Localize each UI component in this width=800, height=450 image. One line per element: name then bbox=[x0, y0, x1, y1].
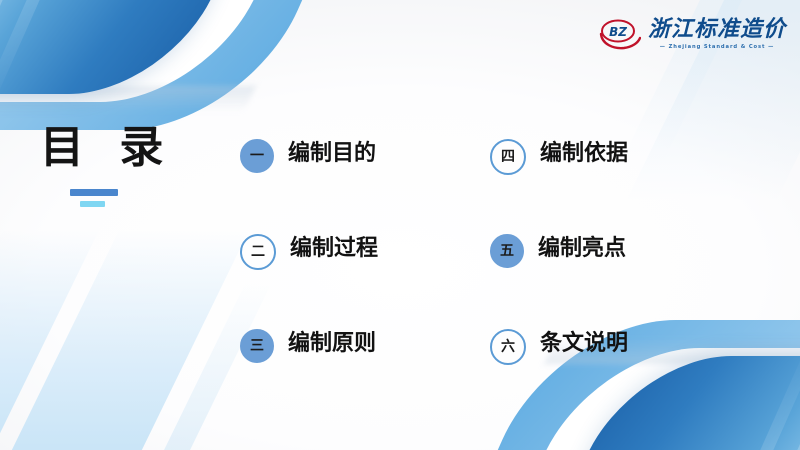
toc-number-badge-5: 五 bbox=[490, 234, 524, 268]
toc-label-1: 编制目的 bbox=[288, 136, 376, 171]
toc-number-badge-2: 二 bbox=[240, 234, 276, 270]
toc-number-badge-1: 一 bbox=[240, 139, 274, 173]
title-accent-bars bbox=[40, 189, 210, 207]
top-left-white-gap bbox=[0, 0, 312, 102]
page-title: 目 录 bbox=[40, 126, 210, 170]
toc-item-2[interactable]: 二 编制过程 bbox=[240, 231, 490, 326]
toc-item-5[interactable]: 五 编制亮点 bbox=[490, 231, 740, 326]
toc-label-5: 编制亮点 bbox=[538, 231, 626, 266]
toc-item-3[interactable]: 三 编制原则 bbox=[240, 326, 490, 421]
toc-item-1[interactable]: 一 编制目的 bbox=[240, 136, 490, 231]
top-left-main-shape bbox=[0, 0, 271, 94]
title-block: 目 录 bbox=[40, 126, 210, 207]
top-left-streak-a bbox=[0, 0, 63, 94]
toc-label-4: 编制依据 bbox=[540, 136, 628, 171]
table-of-contents: 一 编制目的 四 编制依据 二 编制过程 五 编制亮点 三 编制原则 六 条文说… bbox=[240, 136, 740, 421]
company-logo: BZ 浙江标准造价 — Zhejiang Standard & Cost — bbox=[599, 12, 786, 56]
toc-label-6: 条文说明 bbox=[540, 326, 628, 361]
bottom-left-stripe-1 bbox=[0, 230, 99, 450]
toc-number-badge-4: 四 bbox=[490, 139, 526, 175]
toc-item-6[interactable]: 六 条文说明 bbox=[490, 326, 740, 421]
toc-item-4[interactable]: 四 编制依据 bbox=[490, 136, 740, 231]
toc-label-2: 编制过程 bbox=[290, 231, 378, 266]
accent-bar-dark bbox=[70, 189, 118, 196]
svg-text:BZ: BZ bbox=[609, 25, 627, 39]
toc-label-3: 编制原则 bbox=[288, 326, 376, 361]
bz-monogram-icon: BZ bbox=[599, 17, 641, 51]
bottom-right-streak-a bbox=[737, 356, 800, 450]
top-left-shadow-band bbox=[0, 86, 256, 112]
top-left-streak-b bbox=[0, 0, 100, 94]
bottom-left-stripe-2 bbox=[0, 230, 249, 450]
slide-canvas: BZ 浙江标准造价 — Zhejiang Standard & Cost — 目… bbox=[0, 0, 800, 450]
toc-number-badge-6: 六 bbox=[490, 329, 526, 365]
logo-name-en: — Zhejiang Standard & Cost — bbox=[660, 44, 774, 50]
accent-bar-light bbox=[80, 201, 105, 207]
toc-number-badge-3: 三 bbox=[240, 329, 274, 363]
logo-name-cn: 浙江标准造价 bbox=[648, 18, 786, 41]
logo-text-group: 浙江标准造价 — Zhejiang Standard & Cost — bbox=[648, 18, 786, 49]
top-left-back-shape bbox=[0, 0, 356, 130]
